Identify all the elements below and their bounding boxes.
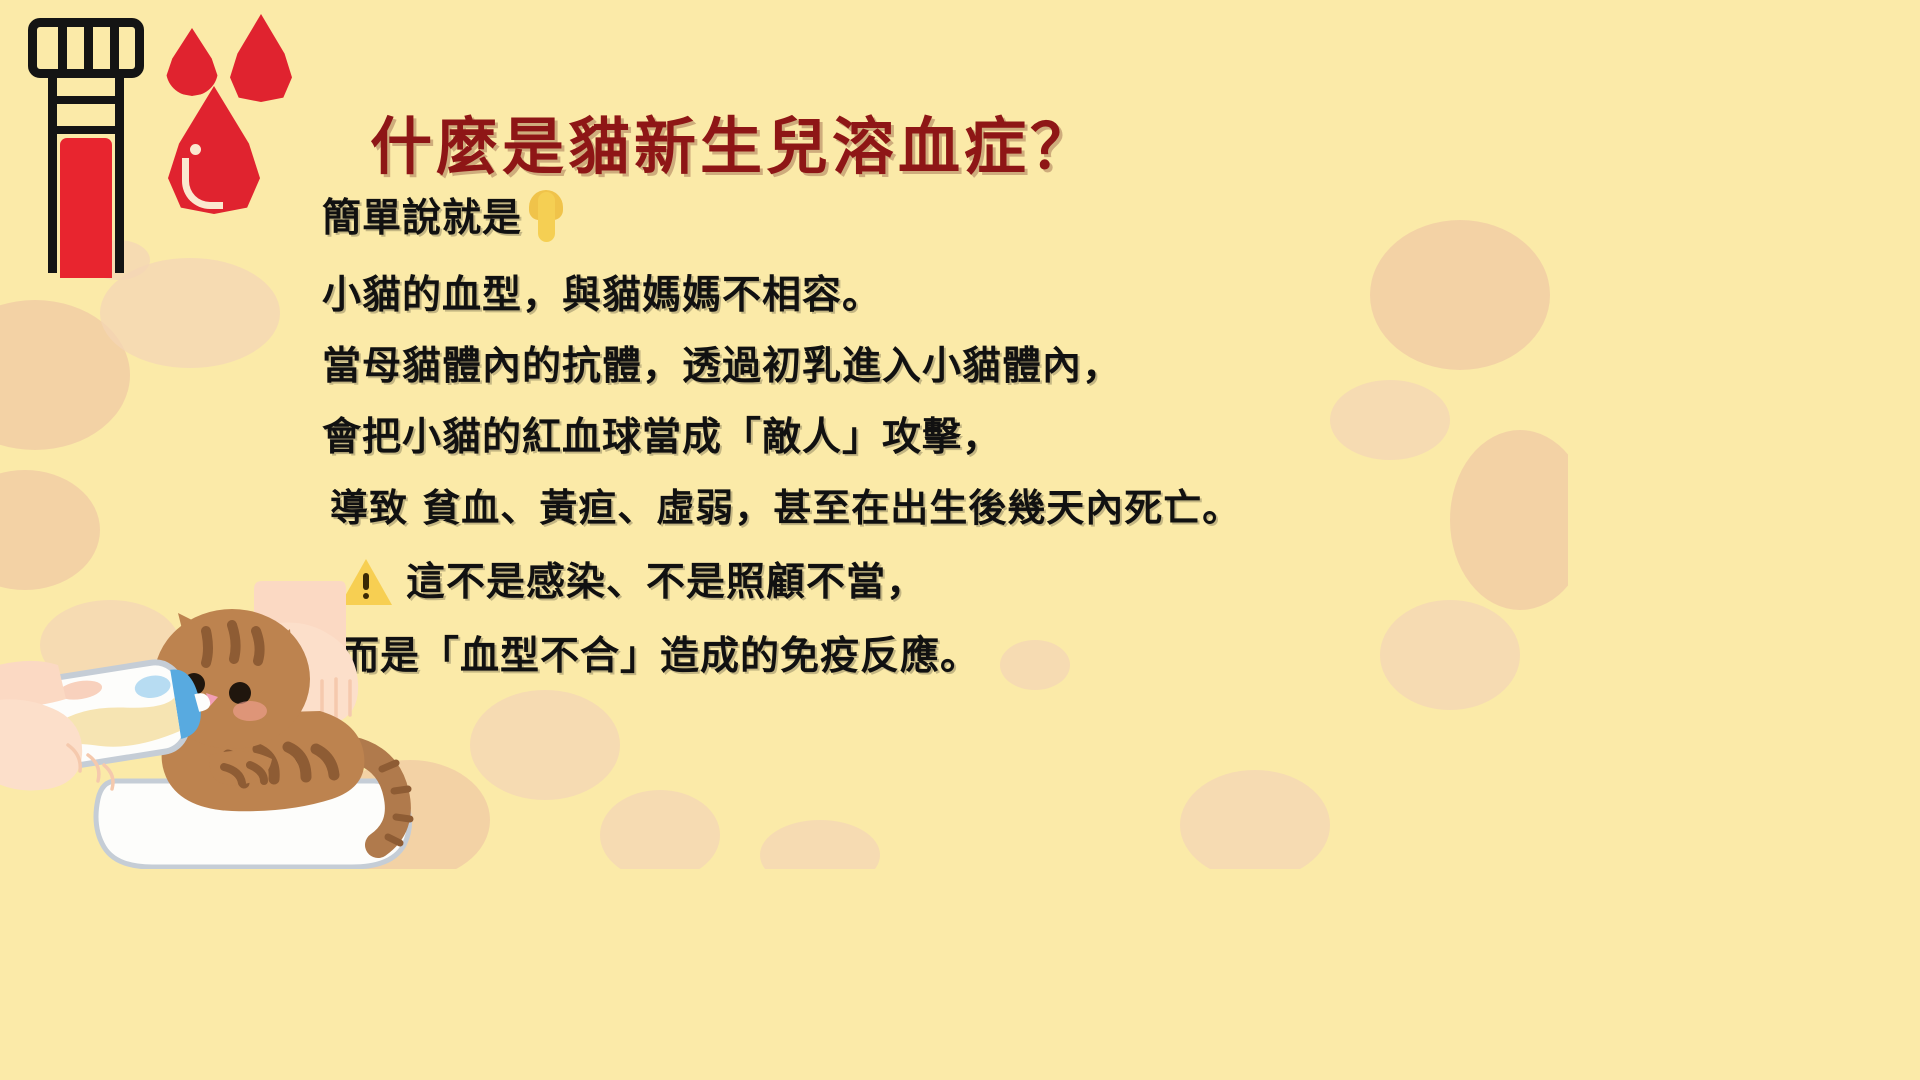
body-line-2-text: 小貓的血型，與貓媽媽不相容。 <box>322 276 882 315</box>
body-line-5: 導致 貧血、黃疸、虛弱，甚至在出生後幾天內死亡。 <box>330 489 1552 527</box>
body-line-4: 會把小貓的紅血球當成「敵人」攻擊， <box>322 418 1552 457</box>
body-line-3: 當母貓體內的抗體，透過初乳進入小貓體內， <box>322 347 1552 386</box>
blood-drop-icon <box>166 28 218 96</box>
blood-test-tube-icon <box>28 18 148 273</box>
down-pointing-arrow-icon <box>524 192 568 244</box>
body-line-7-text: 而是「血型不合」造成的免疫反應。 <box>340 637 980 676</box>
background-blob <box>600 790 720 869</box>
background-blob <box>1180 770 1330 869</box>
body-line-6: 這不是感染、不是照顧不當， <box>340 559 1552 605</box>
body-line-6-text: 這不是感染、不是照顧不當， <box>406 563 926 602</box>
kitten-feeding-illustration <box>0 569 420 869</box>
body-text-block: 簡單說就是 小貓的血型，與貓媽媽不相容。 當母貓體內的抗體，透過初乳進入小貓體內… <box>322 192 1552 708</box>
kitten-feeding-svg <box>0 569 420 869</box>
background-blob <box>100 258 280 368</box>
body-line-3-text: 當母貓體內的抗體，透過初乳進入小貓體內， <box>322 347 1122 386</box>
blood-drop-icon <box>168 86 260 214</box>
body-line-5-text: 導致 貧血、黃疸、虛弱，甚至在出生後幾天內死亡。 <box>330 489 1241 527</box>
body-line-1-text: 簡單說就是 <box>322 199 522 238</box>
background-blob <box>760 820 880 869</box>
body-line-7: 而是「血型不合」造成的免疫反應。 <box>340 637 1552 676</box>
page-title: 什麼是貓新生兒溶血症？ <box>370 96 1250 186</box>
body-line-2: 小貓的血型，與貓媽媽不相容。 <box>322 276 1552 315</box>
poster-canvas: 什麼是貓新生兒溶血症？ 簡單說就是 小貓的血型，與貓媽媽不相容。 當母貓體內的抗… <box>0 0 1568 869</box>
body-line-4-text: 會把小貓的紅血球當成「敵人」攻擊， <box>322 418 1002 457</box>
body-line-1: 簡單說就是 <box>322 192 1552 244</box>
blood-drop-icon <box>230 14 292 102</box>
